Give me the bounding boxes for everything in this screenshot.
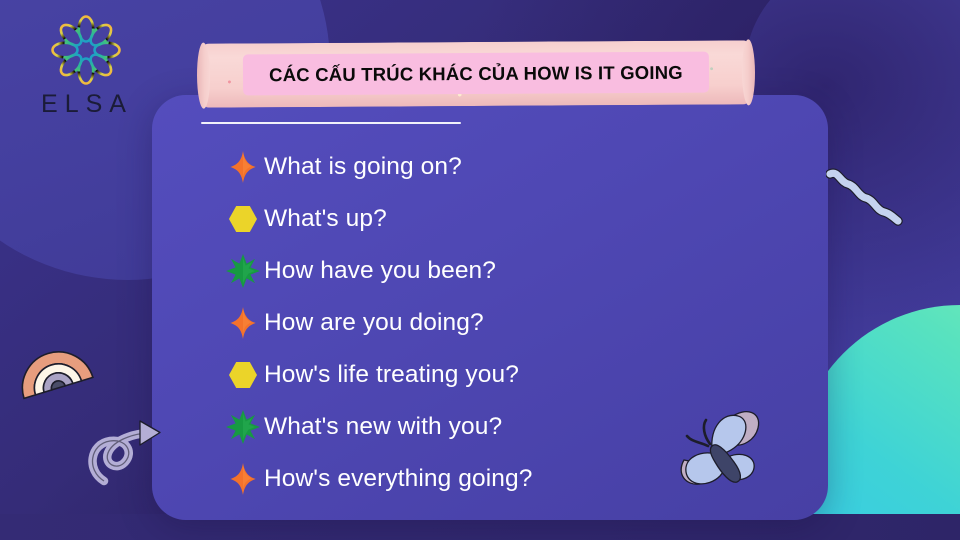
list-item-label: What's up? bbox=[264, 207, 387, 232]
orange-sparkle-icon bbox=[222, 150, 264, 184]
orange-sparkle-icon bbox=[222, 462, 264, 496]
green-star-icon bbox=[222, 409, 264, 445]
page-title: CÁC CẤU TRÚC KHÁC CỦA HOW IS IT GOING bbox=[269, 61, 683, 86]
list-item: How are you doing? bbox=[222, 297, 802, 349]
banner-left-cap bbox=[197, 43, 210, 109]
banner-inner-panel: CÁC CẤU TRÚC KHÁC CỦA HOW IS IT GOING bbox=[243, 52, 709, 96]
list-item-label: How are you doing? bbox=[264, 311, 484, 336]
butterfly-icon bbox=[672, 404, 784, 505]
title-divider bbox=[201, 122, 461, 124]
list-item: How's life treating you? bbox=[222, 349, 802, 401]
brand-logo: ELSA bbox=[22, 14, 152, 114]
brand-name: ELSA bbox=[22, 90, 152, 119]
list-item: What is going on? bbox=[222, 141, 802, 193]
list-item-label: What's new with you? bbox=[264, 415, 502, 440]
slide-canvas: ELSA CÁC CẤU TRÚC KHÁC CỦA HOW IS IT GOI… bbox=[0, 0, 960, 540]
wavy-line-icon bbox=[826, 168, 904, 235]
list-item: What's up? bbox=[222, 193, 802, 245]
list-item-label: How's life treating you? bbox=[264, 363, 519, 388]
title-banner: CÁC CẤU TRÚC KHÁC CỦA HOW IS IT GOING bbox=[202, 40, 750, 107]
green-star-icon bbox=[222, 253, 264, 289]
list-item-label: How have you been? bbox=[264, 259, 496, 284]
list-item-label: What is going on? bbox=[264, 155, 462, 180]
yellow-hexagon-icon bbox=[222, 204, 264, 234]
yellow-hexagon-icon bbox=[222, 360, 264, 390]
list-item: How have you been? bbox=[222, 245, 802, 297]
list-item-label: How's everything going? bbox=[264, 467, 532, 492]
curly-arrow-icon bbox=[82, 418, 172, 493]
orange-sparkle-icon bbox=[222, 306, 264, 340]
banner-right-cap bbox=[742, 39, 755, 105]
elsa-flower-logo-icon bbox=[50, 14, 122, 91]
